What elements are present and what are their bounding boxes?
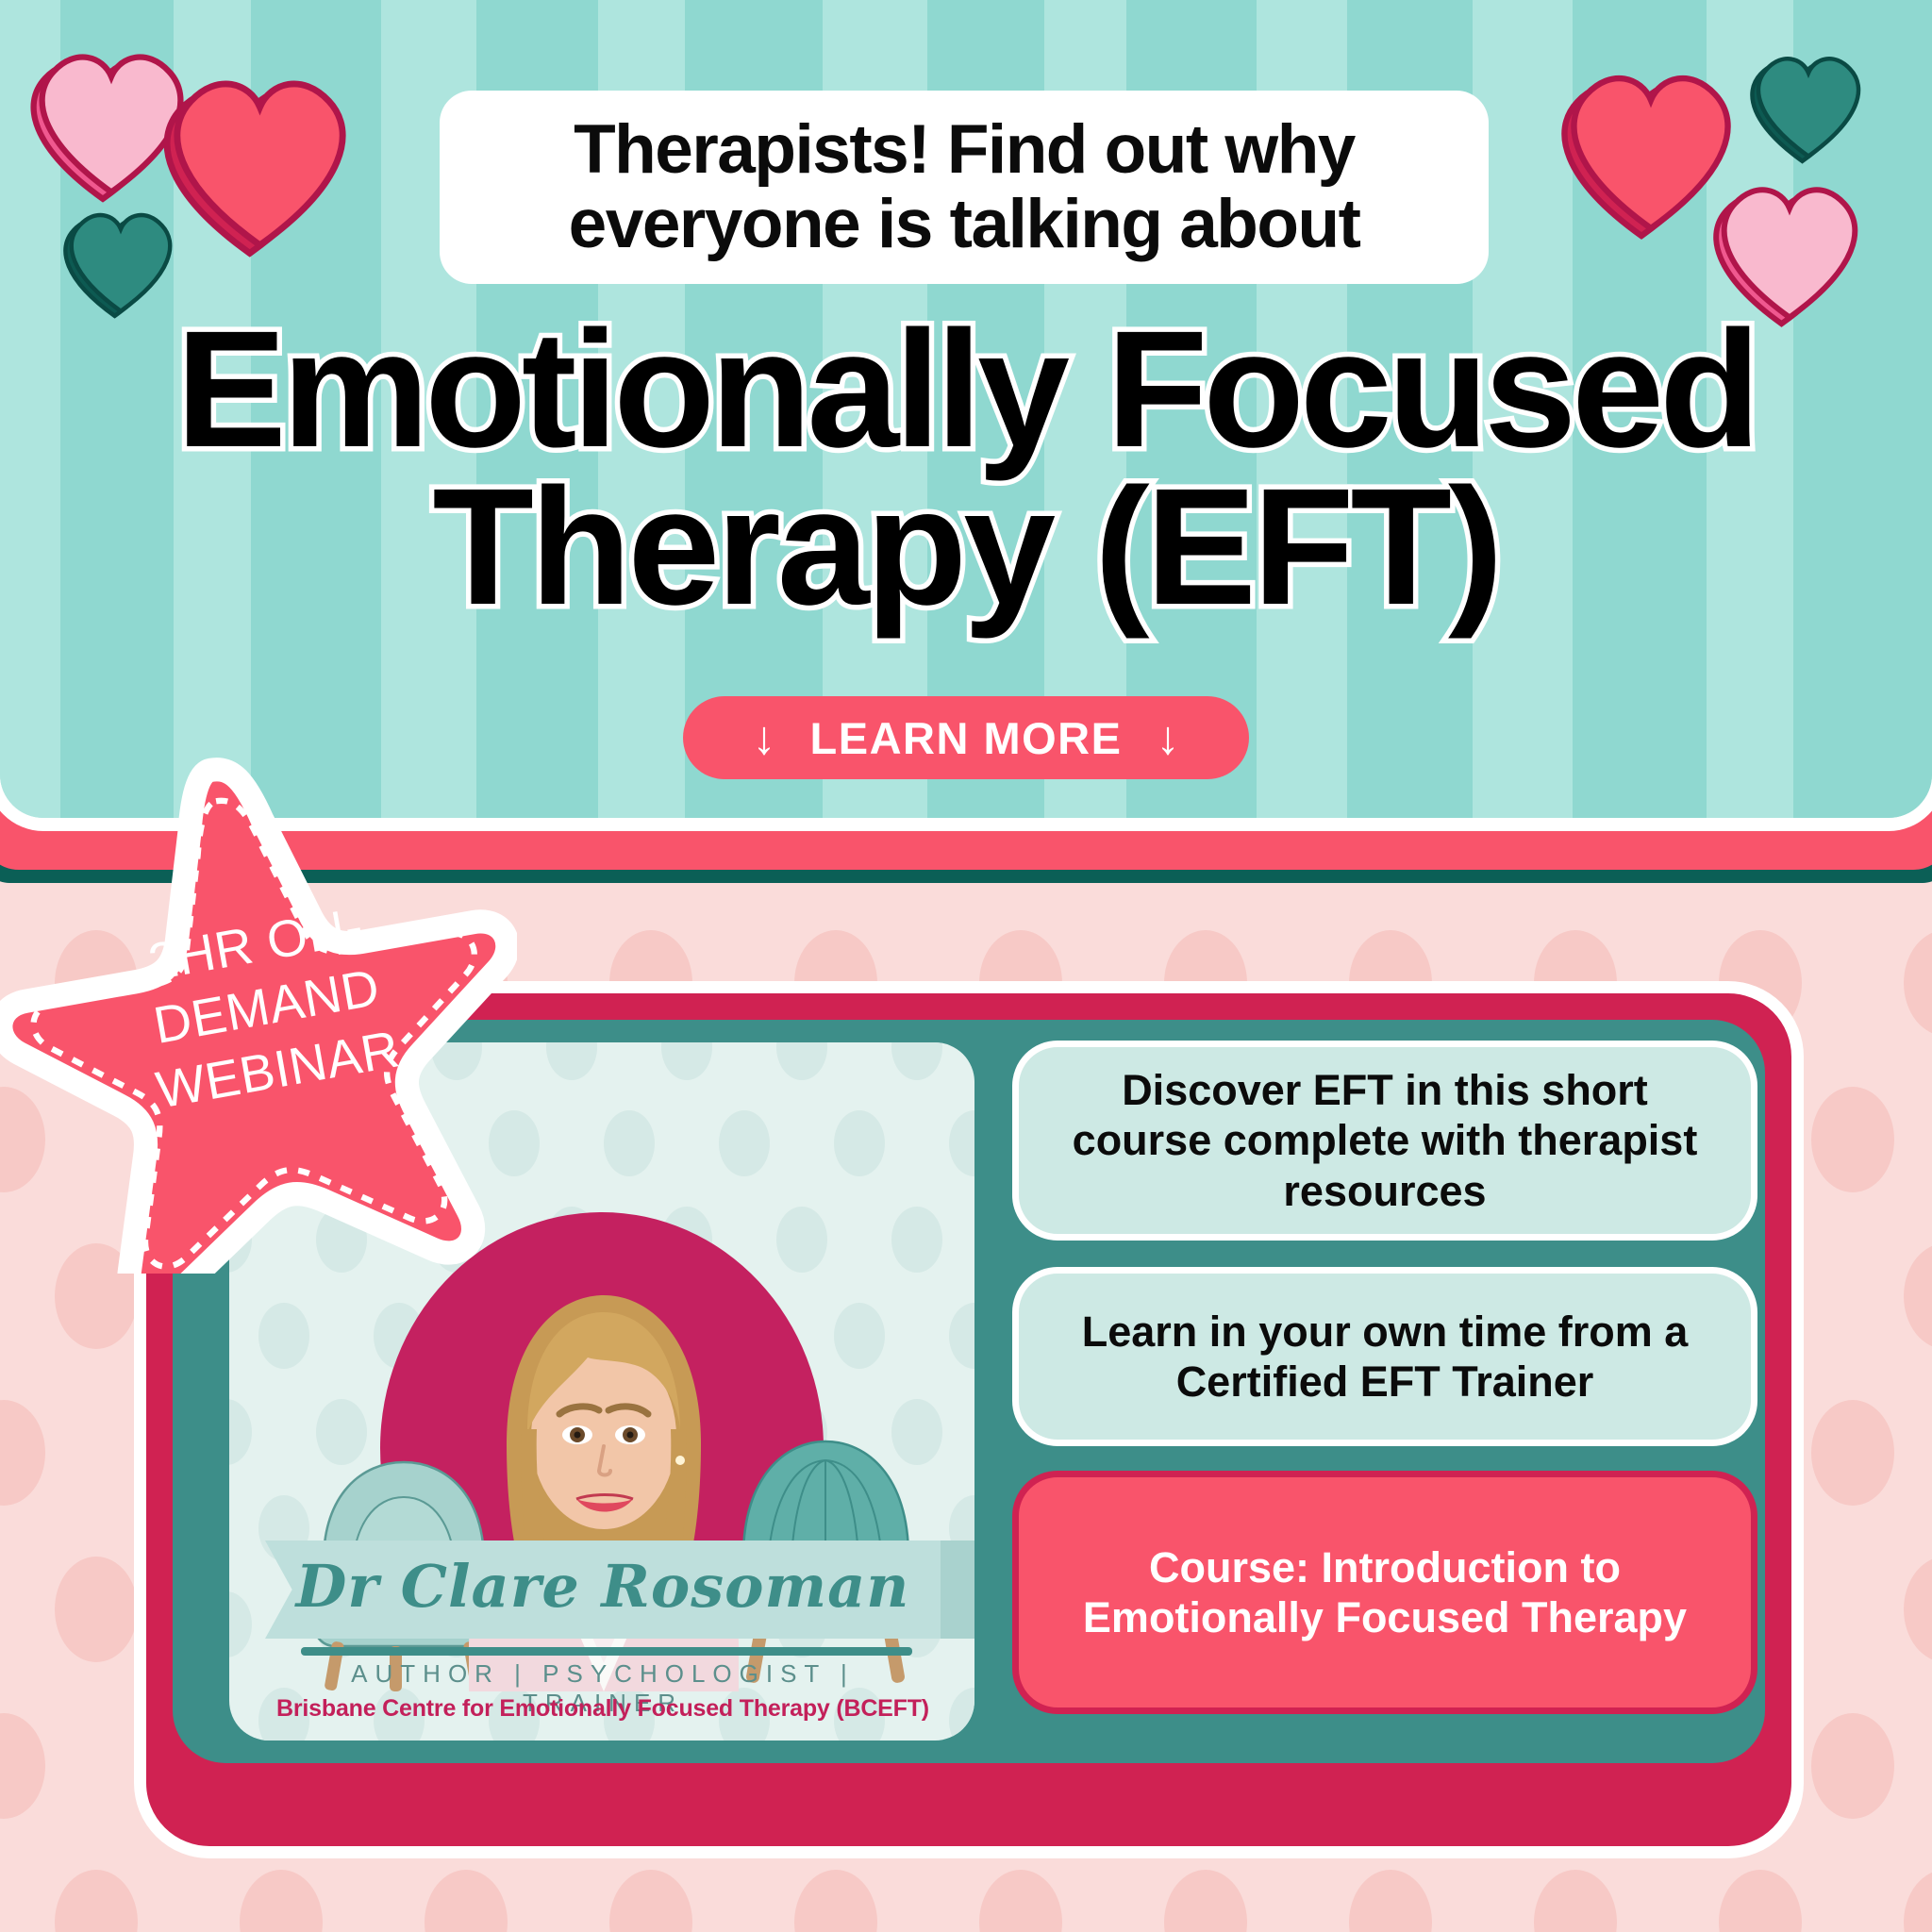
background-dot <box>425 1870 508 1932</box>
learn-more-button[interactable]: ↓ LEARN MORE ↓ <box>683 696 1249 779</box>
eyebrow-headline-card: Therapists! Find out whyeveryone is talk… <box>440 91 1489 284</box>
background-dot <box>1719 1870 1802 1932</box>
arrow-down-right-icon: ↓ <box>1156 714 1179 761</box>
panel-dot <box>258 1303 309 1369</box>
background-dot <box>1534 1870 1617 1932</box>
background-dot <box>1811 1713 1894 1819</box>
presenter-name: Dr Clare Rosoman <box>265 1533 941 1639</box>
presenter-organisation: Brisbane Centre for Emotionally Focused … <box>246 1695 959 1723</box>
eyebrow-line-2: everyone is talking about <box>569 186 1360 262</box>
panel-dot <box>834 1303 885 1369</box>
feature-box-2[interactable]: Learn in your own time from a Certified … <box>1012 1267 1757 1446</box>
feature-list: Discover EFT in this short course comple… <box>1012 1041 1757 1742</box>
background-dot <box>1811 1087 1894 1192</box>
background-dot <box>979 1870 1062 1932</box>
panel-dot <box>834 1110 885 1176</box>
feature-box-1-text: Discover EFT in this short course comple… <box>1019 1065 1751 1215</box>
background-dot <box>1164 1870 1247 1932</box>
eyebrow-headline: Therapists! Find out whyeveryone is talk… <box>544 113 1385 260</box>
heart-pink-top-right <box>1709 170 1870 335</box>
heart-coral-top-left <box>158 58 361 266</box>
background-dot <box>55 1557 138 1662</box>
background-dot <box>1904 1557 1932 1662</box>
arrow-down-left-icon: ↓ <box>753 714 776 761</box>
heart-teal-top-left <box>60 200 181 325</box>
feature-box-3-course[interactable]: Course: Introduction to Emotionally Focu… <box>1012 1471 1757 1714</box>
panel-dot <box>604 1110 655 1176</box>
background-dot <box>0 1713 45 1819</box>
star-shape-icon <box>0 745 517 1274</box>
poster-canvas: Therapists! Find out whyeveryone is talk… <box>0 0 1932 1932</box>
name-underline <box>301 1647 912 1656</box>
panel-dot <box>776 1207 827 1273</box>
feature-box-2-text: Learn in your own time from a Certified … <box>1019 1307 1751 1407</box>
panel-dot <box>546 1042 597 1080</box>
panel-dot <box>229 1399 252 1465</box>
background-dot <box>1904 1243 1932 1349</box>
background-dot <box>1349 1870 1432 1932</box>
panel-dot <box>891 1207 942 1273</box>
feature-box-3-text: Course: Introduction to Emotionally Focu… <box>1019 1542 1751 1642</box>
webinar-star-badge: 2HR ON- DEMAND WEBINAR <box>0 745 517 1274</box>
heart-teal-top-right <box>1747 43 1870 171</box>
eyebrow-line-1: Therapists! Find out why <box>574 111 1355 188</box>
panel-dot <box>229 1591 252 1657</box>
panel-dot <box>776 1042 827 1080</box>
background-dot <box>1904 1870 1932 1932</box>
panel-dot <box>949 1110 974 1176</box>
background-dot <box>55 1870 138 1932</box>
background-dot <box>0 1400 45 1506</box>
name-banner-tail <box>936 1541 974 1639</box>
panel-dot <box>661 1042 712 1080</box>
learn-more-label: LEARN MORE <box>810 712 1123 764</box>
background-dot <box>609 1870 692 1932</box>
panel-dot <box>891 1042 942 1080</box>
feature-box-1[interactable]: Discover EFT in this short course comple… <box>1012 1041 1757 1241</box>
panel-dot <box>949 1303 974 1369</box>
background-dot <box>1811 1400 1894 1506</box>
background-dot <box>1904 930 1932 1036</box>
background-dot <box>794 1870 877 1932</box>
panel-dot <box>719 1110 770 1176</box>
background-dot <box>240 1870 323 1932</box>
